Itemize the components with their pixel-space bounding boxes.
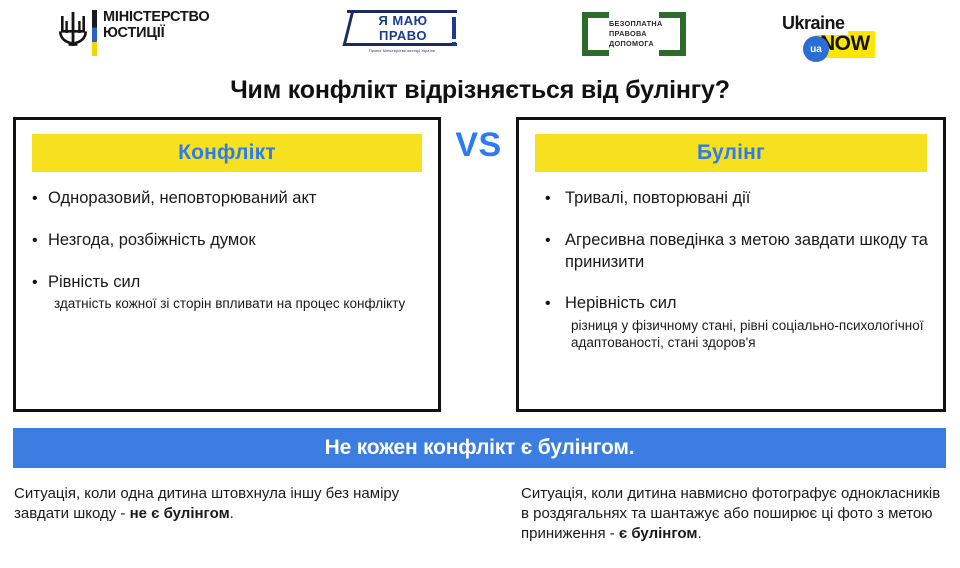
caption-is-bullying: Ситуація, коли дитина навмисно фотографу… — [521, 484, 951, 544]
bpd-line2: ПРАВОВА — [609, 29, 661, 39]
list-item-subtext: здатність кожної зі сторін впливати на п… — [54, 295, 424, 312]
free-legal-aid-text: БЕЗОПЛАТНА ПРАВОВА ДОПОМОГА — [609, 19, 661, 49]
bpd-line1: БЕЗОПЛАТНА — [609, 19, 661, 29]
panel-conflict-bullets: • Одноразовий, неповторюваний акт • Незг… — [32, 188, 424, 333]
list-item: • Рівність сил здатність кожної зі сторі… — [32, 272, 424, 313]
list-item: • Тривалі, повторювані дії — [545, 188, 931, 210]
caption-emphasis: не є булінгом — [130, 505, 230, 522]
bullet-icon: • — [32, 188, 48, 209]
caption-emphasis: є булінгом — [619, 525, 698, 542]
list-item-text: Тривалі, повторювані дії — [565, 188, 750, 210]
panel-bullying-heading: Булінг — [697, 141, 765, 165]
vs-label: VS — [441, 126, 516, 165]
list-item: • Одноразовий, неповторюваний акт — [32, 188, 424, 210]
caption-suffix: . — [697, 525, 701, 542]
caption-suffix: . — [230, 505, 234, 522]
ministry-logo-line2: ЮСТИЦІЇ — [103, 26, 210, 42]
left-bracket-icon — [582, 12, 609, 56]
ukraine-now-logo: Ukraine NOW ua — [779, 12, 891, 58]
bpd-line3: ДОПОМОГА — [609, 39, 661, 49]
list-item-text: Рівність сил — [48, 272, 140, 294]
list-item: • Незгода, розбіжність думок — [32, 230, 424, 252]
ua-badge-icon: ua — [803, 36, 829, 62]
list-item-text: Одноразовий, неповторюваний акт — [48, 188, 316, 210]
free-legal-aid-logo: БЕЗОПЛАТНА ПРАВОВА ДОПОМОГА — [582, 12, 686, 56]
list-item-text: Агресивна поведінка з метою завдати шкод… — [565, 230, 931, 274]
summary-banner-text: Не кожен конфлікт є булінгом. — [325, 436, 635, 460]
ya-mayu-pravo-logo: Я МАЮ ПРАВО Проект Міністерства юстиції … — [347, 10, 457, 53]
logo-strip: МІНІСТЕРСТВО ЮСТИЦІЇ Я МАЮ ПРАВО Проект … — [0, 0, 960, 70]
ministry-logo-line1: МІНІСТЕРСТВО — [103, 10, 210, 26]
panel-bullying-bullets: • Тривалі, повторювані дії • Агресивна п… — [545, 188, 931, 372]
ministry-of-justice-logo: МІНІСТЕРСТВО ЮСТИЦІЇ — [58, 10, 210, 56]
ymp-text: Я МАЮ ПРАВО — [361, 12, 445, 44]
summary-banner: Не кожен конфлікт є булінгом. — [13, 428, 946, 468]
exclamation-icon — [452, 17, 456, 39]
panel-conflict: Конфлікт • Одноразовий, неповторюваний а… — [13, 117, 441, 412]
bullet-icon: • — [545, 230, 565, 251]
ymp-caption: Проект Міністерства юстиції України — [347, 49, 457, 53]
caption-prefix: Ситуація, коли дитина навмисно фотографу… — [521, 485, 940, 542]
ministry-logo-text: МІНІСТЕРСТВО ЮСТИЦІЇ — [103, 10, 210, 41]
list-item: • Агресивна поведінка з метою завдати шк… — [545, 230, 931, 274]
page-title: Чим конфлікт відрізняється від булінгу? — [0, 76, 960, 105]
ukraine-now-word1: Ukraine — [779, 12, 848, 35]
bullet-icon: • — [32, 230, 48, 251]
right-bracket-icon — [659, 12, 686, 56]
caption-not-bullying: Ситуація, коли одна дитина штовхнула інш… — [14, 484, 454, 524]
list-item-text: Незгода, розбіжність думок — [48, 230, 256, 252]
bullet-icon: • — [32, 272, 48, 293]
panel-conflict-header: Конфлікт — [32, 134, 422, 172]
list-item-subtext: різниця у фізичному стані, рівні соціаль… — [571, 317, 931, 352]
list-item-text: Нерівність сил — [565, 293, 677, 315]
flag-bar — [92, 10, 97, 56]
bullet-icon: • — [545, 188, 565, 209]
panel-bullying: Булінг • Тривалі, повторювані дії • Агре… — [516, 117, 946, 412]
ymp-line2: ПРАВО — [379, 29, 427, 42]
list-item: • Нерівність сил різниця у фізичному ста… — [545, 293, 931, 351]
panel-bullying-header: Булінг — [535, 134, 927, 172]
panel-conflict-heading: Конфлікт — [178, 141, 276, 165]
ymp-frame: Я МАЮ ПРАВО — [347, 10, 457, 46]
bullet-icon: • — [545, 293, 565, 314]
trident-icon — [58, 10, 88, 48]
ymp-line1: Я МАЮ — [378, 14, 427, 27]
